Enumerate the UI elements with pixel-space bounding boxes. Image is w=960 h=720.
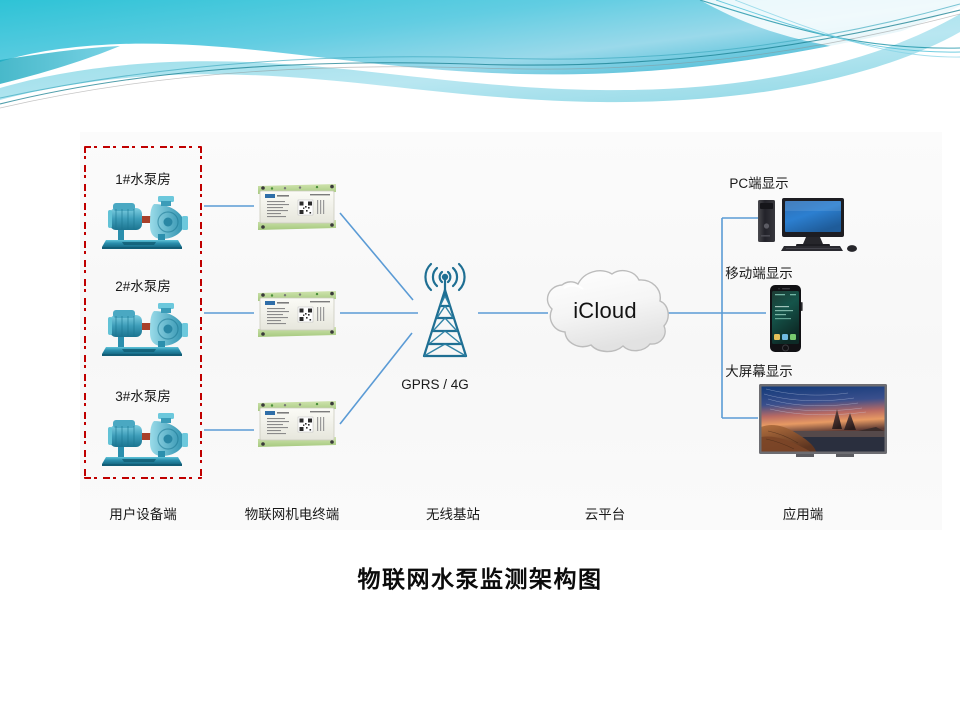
column-label-cloud-platform: 云平台: [535, 503, 675, 523]
gateway-node-3: [254, 399, 340, 454]
water-pump-icon: [98, 407, 190, 474]
water-pump-icon: [98, 190, 190, 257]
app-caption-mobile: 移动端显示: [684, 262, 834, 282]
large-screen-display-icon: [758, 383, 888, 464]
cell-tower-node: [402, 256, 488, 377]
smartphone-icon: [766, 284, 806, 359]
app-caption-large-screen: 大屏幕显示: [684, 360, 834, 380]
column-label-user-equipment: 用户设备端: [73, 503, 213, 523]
pump-caption-3: 3#水泵房: [84, 385, 202, 405]
smartphone-node: [766, 284, 806, 359]
tower-label: GPRS / 4G: [375, 377, 495, 392]
pump-caption-1: 1#水泵房: [84, 168, 202, 188]
water-pump-icon: [98, 297, 190, 364]
app-caption-pc: PC端显示: [684, 172, 834, 192]
gateway-node-2: [254, 289, 340, 344]
iot-gateway-module-icon: [254, 289, 340, 344]
large-screen-display-node: [758, 383, 888, 464]
cell-tower-icon: [402, 256, 488, 377]
desktop-computer-icon: [756, 196, 858, 257]
gateway-node-1: [254, 182, 340, 237]
cloud-label: iCloud: [534, 298, 676, 324]
page-title: 物联网水泵监测架构图: [0, 560, 960, 594]
iot-gateway-module-icon: [254, 399, 340, 454]
pump-caption-2: 2#水泵房: [84, 275, 202, 295]
iot-gateway-module-icon: [254, 182, 340, 237]
column-label-iot-terminal: 物联网机电终端: [222, 503, 362, 523]
desktop-computer-node: [756, 196, 858, 257]
slide-canvas: 1#水泵房: [0, 0, 960, 720]
column-label-base-station: 无线基站: [383, 503, 523, 523]
column-label-application: 应用端: [733, 503, 873, 523]
